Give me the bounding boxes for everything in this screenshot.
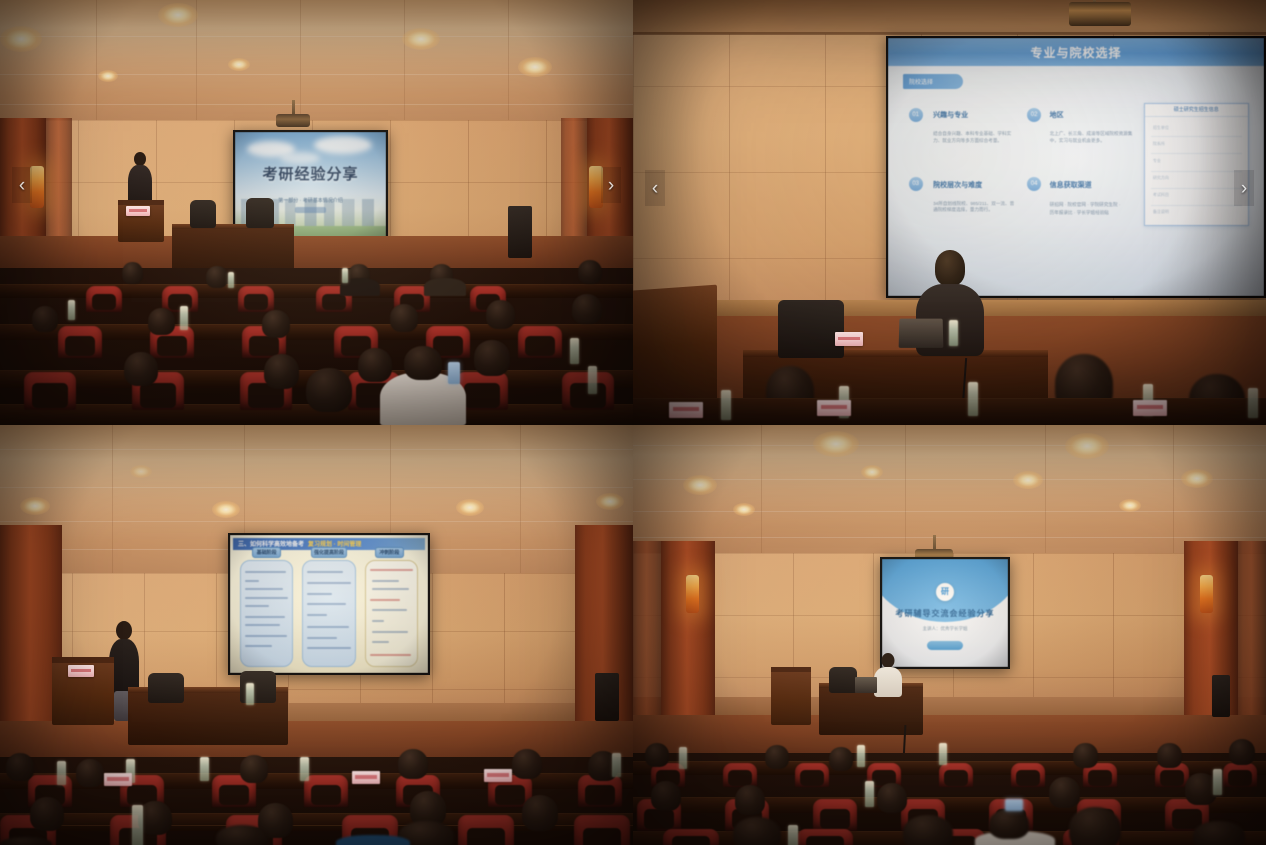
ceiling-light (1181, 469, 1213, 488)
slide-subtitle: 主讲人：优秀学长学姐 (882, 626, 1008, 632)
water-bottle (300, 757, 309, 781)
audience-member (122, 262, 143, 284)
audience-member-foreground (733, 817, 781, 845)
slide-column (302, 560, 355, 668)
audience-member (30, 797, 64, 831)
audience-member-foreground (306, 368, 352, 412)
slide-pill (927, 641, 962, 650)
ceiling-light (596, 493, 624, 510)
slide-block-icon: 01 (909, 108, 923, 122)
water-bottle (679, 747, 687, 769)
slide-column (365, 560, 418, 668)
audience-chair (939, 763, 973, 787)
audience-member (358, 348, 392, 382)
water-bottle (788, 825, 798, 845)
speaker-presenter (124, 152, 156, 204)
laptop (855, 677, 877, 693)
slide-column-tab: 基础阶段 (252, 547, 282, 558)
carousel-prev-button[interactable]: ‹ (645, 170, 665, 206)
audience-member (486, 300, 515, 329)
ceiling-light (158, 3, 198, 27)
audience-phone (448, 362, 460, 384)
water-bottle (570, 338, 579, 364)
audience-member (522, 795, 558, 831)
ceiling-light (518, 57, 552, 77)
office-chair (148, 673, 184, 703)
audience-member (1073, 743, 1098, 768)
water-bottle (246, 683, 254, 705)
office-chair (829, 667, 857, 693)
slide-block-title: 地区 (1050, 110, 1064, 120)
carousel-next-button[interactable]: › (601, 167, 621, 203)
audience-chair (458, 815, 514, 845)
audience-member (264, 354, 299, 389)
slide-block-body: 北上广、长三角、成渝等区域院校资源集中，实习与就业机会更多。 (1050, 131, 1133, 144)
audience-chair (663, 829, 719, 845)
audience-member (148, 308, 175, 335)
audience-member (645, 743, 669, 767)
slide-form-mockup: 硕士研究生招生信息 招生单位 院系所 专业 研究方向 考试科目 备注说明 (1144, 103, 1249, 227)
ceiling-light (861, 465, 883, 479)
audience-member (474, 340, 510, 376)
slide-block-icon: 03 (909, 177, 923, 191)
slide-block-title: 兴趣与专业 (933, 110, 968, 120)
desk-name-card (1133, 400, 1167, 416)
desk-name-card (352, 771, 380, 784)
gallery-photo-top-right[interactable]: 专业与院校选择 院校选择 01 兴趣与专业 结合自身兴趣、本科专业基础、学科实力… (633, 0, 1266, 425)
water-bottle (68, 300, 75, 320)
audience-phone (1005, 799, 1023, 811)
audience-chair (813, 799, 857, 831)
ceiling-light (402, 28, 440, 50)
slide-content: 三、如何科学高效地备考 复习规划 · 时间管理 (230, 535, 428, 673)
side-podium (771, 667, 811, 725)
chevron-right-icon: › (608, 176, 614, 195)
audience-member (76, 759, 104, 787)
ceiling-light (733, 503, 755, 516)
ceiling-projector (1069, 2, 1131, 26)
speaker-cabinet (1212, 675, 1230, 717)
audience-member (651, 781, 681, 811)
lecture-hall-wide-scene: 研 考研辅导交流会经验分享 主讲人：优秀学长学姐 (633, 425, 1266, 845)
slide-block-icon: 02 (1027, 108, 1041, 122)
water-bottle (200, 757, 209, 781)
slide-block-body: 研招网 · 院校官网 · 学院研究生院 · 历年报录比 · 学长学姐经验贴 (1050, 201, 1125, 218)
slide-title: 考研辅导交流会经验分享 (882, 608, 1008, 619)
water-bottle (939, 743, 947, 765)
audience-chair (795, 763, 829, 787)
slide-badge: 研 (936, 583, 954, 601)
ceiling-light (813, 431, 859, 457)
carousel-prev-button[interactable]: ‹ (12, 167, 32, 203)
wall-sconce-left (686, 575, 699, 613)
speaker-cabinet (595, 673, 619, 721)
audience-chair (86, 286, 122, 312)
slide-column-tab: 冲刺阶段 (375, 547, 405, 558)
chevron-left-icon: ‹ (652, 179, 658, 198)
audience-chair (797, 829, 853, 845)
ceiling-light (683, 475, 717, 495)
audience-member (262, 310, 290, 338)
water-bottle (612, 753, 621, 777)
audience-chair (574, 815, 630, 845)
audience-member (138, 801, 172, 835)
slide-column-tab: 强化提高阶段 (311, 547, 347, 558)
office-chair (190, 200, 216, 228)
audience-chair (723, 763, 757, 787)
slide-title: 考研经验分享 (235, 163, 386, 184)
slide-title: 专业与院校选择 (1030, 44, 1121, 61)
audience-member-foreground (216, 825, 268, 845)
audience-member-foreground (0, 837, 52, 845)
slide-form-header: 硕士研究生招生信息 (1145, 104, 1248, 117)
audience-chair (58, 326, 102, 358)
audience-member-foreground (903, 815, 953, 845)
audience-chair (304, 775, 348, 807)
ceiling-light (98, 70, 118, 82)
lecture-hall-scene: 考研经验分享 第一部分 · 考研基本情况介绍 (0, 0, 633, 425)
audience-member (124, 352, 158, 386)
audience-member (877, 783, 907, 813)
gallery-photo-bottom-left[interactable]: 三、如何科学高效地备考 复习规划 · 时间管理 (0, 425, 633, 845)
ceiling-light (1065, 433, 1109, 459)
audience-chair (518, 326, 562, 358)
audience-member (829, 747, 853, 771)
desk-name-card (484, 769, 512, 782)
audience-member-foreground (1193, 821, 1245, 845)
water-bottle (132, 805, 143, 845)
water-bottle (180, 306, 188, 330)
audience-member (390, 304, 418, 332)
ceiling-light (0, 26, 42, 52)
wall-sconce-left (30, 166, 44, 208)
water-bottle (228, 272, 234, 288)
desk-name-card (835, 332, 863, 346)
slide-block-body: 34所自划线院校、985/211、双一流、普通院校梯度选择，量力而行。 (933, 201, 1016, 214)
audience-member (765, 745, 789, 769)
office-chair (246, 198, 274, 228)
ceiling-light (456, 499, 484, 516)
audience-member (512, 749, 542, 779)
audience-chair (1011, 763, 1045, 787)
slide-block-title: 信息获取渠道 (1050, 180, 1092, 190)
ceiling-light (228, 58, 250, 71)
audience-member (1229, 739, 1255, 765)
ceiling-projector (276, 114, 310, 127)
audience-member (1157, 743, 1182, 768)
ceiling-light (130, 465, 152, 478)
carousel-next-button[interactable]: › (1234, 170, 1254, 206)
wall-column-left (661, 541, 715, 721)
audience-member (240, 755, 268, 783)
lecture-hall-stage-scene: 专业与院校选择 院校选择 01 兴趣与专业 结合自身兴趣、本科专业基础、学科实力… (633, 0, 1266, 425)
wall-column-left-2 (633, 541, 661, 721)
audience-member (32, 306, 58, 332)
ceiling-light (1119, 499, 1141, 512)
audience-chair (24, 372, 76, 410)
audience-member (398, 749, 428, 779)
slide-block-icon: 04 (1027, 177, 1041, 191)
desk-name-card (104, 773, 132, 786)
wall-sconce-right (1200, 575, 1213, 613)
ceiling-light (212, 501, 240, 518)
projection-screen: 三、如何科学高效地备考 复习规划 · 时间管理 (228, 533, 430, 675)
chevron-right-icon: › (1241, 179, 1247, 198)
podium-name-card (126, 206, 150, 216)
podium-name-card (68, 665, 94, 677)
slide-content: 研 考研辅导交流会经验分享 主讲人：优秀学长学姐 (882, 559, 1008, 667)
ceiling-light (20, 497, 50, 515)
slide-tag: 院校选择 (909, 77, 933, 86)
desk-name-card (669, 402, 703, 418)
slide-column (240, 560, 293, 668)
water-bottle (1213, 769, 1222, 795)
water-bottle (721, 390, 731, 420)
water-bottle (588, 366, 597, 394)
water-bottle (949, 320, 958, 346)
audience-member-foreground (404, 346, 442, 380)
gallery-photo-top-left[interactable]: 考研经验分享 第一部分 · 考研基本情况介绍 (0, 0, 633, 425)
audience-member (206, 266, 228, 288)
speaker-presenter (873, 653, 903, 695)
audience-member (735, 785, 765, 815)
water-bottle (1248, 388, 1258, 418)
audience-member-foreground (1069, 807, 1121, 845)
water-bottle (968, 382, 978, 416)
audience-member (6, 753, 34, 781)
slide-block-body: 结合自身兴趣、本科专业基础、学科实力、就业方向等多方面综合考量。 (933, 131, 1016, 144)
gallery-photo-bottom-right[interactable]: 研 考研辅导交流会经验分享 主讲人：优秀学长学姐 (633, 425, 1266, 845)
desk-name-card (817, 400, 851, 416)
ceiling-light (1013, 471, 1043, 489)
chevron-left-icon: ‹ (19, 176, 25, 195)
lecture-hall-scene: 三、如何科学高效地备考 复习规划 · 时间管理 (0, 425, 633, 845)
water-bottle (57, 761, 66, 785)
audience-member (572, 294, 602, 324)
audience-chair (1223, 763, 1257, 787)
water-bottle (857, 745, 865, 767)
speaker-cabinet (508, 206, 532, 258)
audience-member (578, 260, 602, 284)
audience-member-foreground (989, 809, 1029, 839)
photo-gallery-grid: 考研经验分享 第一部分 · 考研基本情况介绍 (0, 0, 1266, 845)
slide-block-title: 院校层次与难度 (933, 180, 982, 190)
audience-chair (238, 286, 274, 312)
water-bottle (342, 268, 348, 283)
laptop (899, 319, 944, 348)
audience-member (1049, 777, 1080, 808)
water-bottle (865, 781, 874, 807)
wall-column-right-2 (1238, 541, 1266, 721)
office-chair (778, 300, 844, 358)
